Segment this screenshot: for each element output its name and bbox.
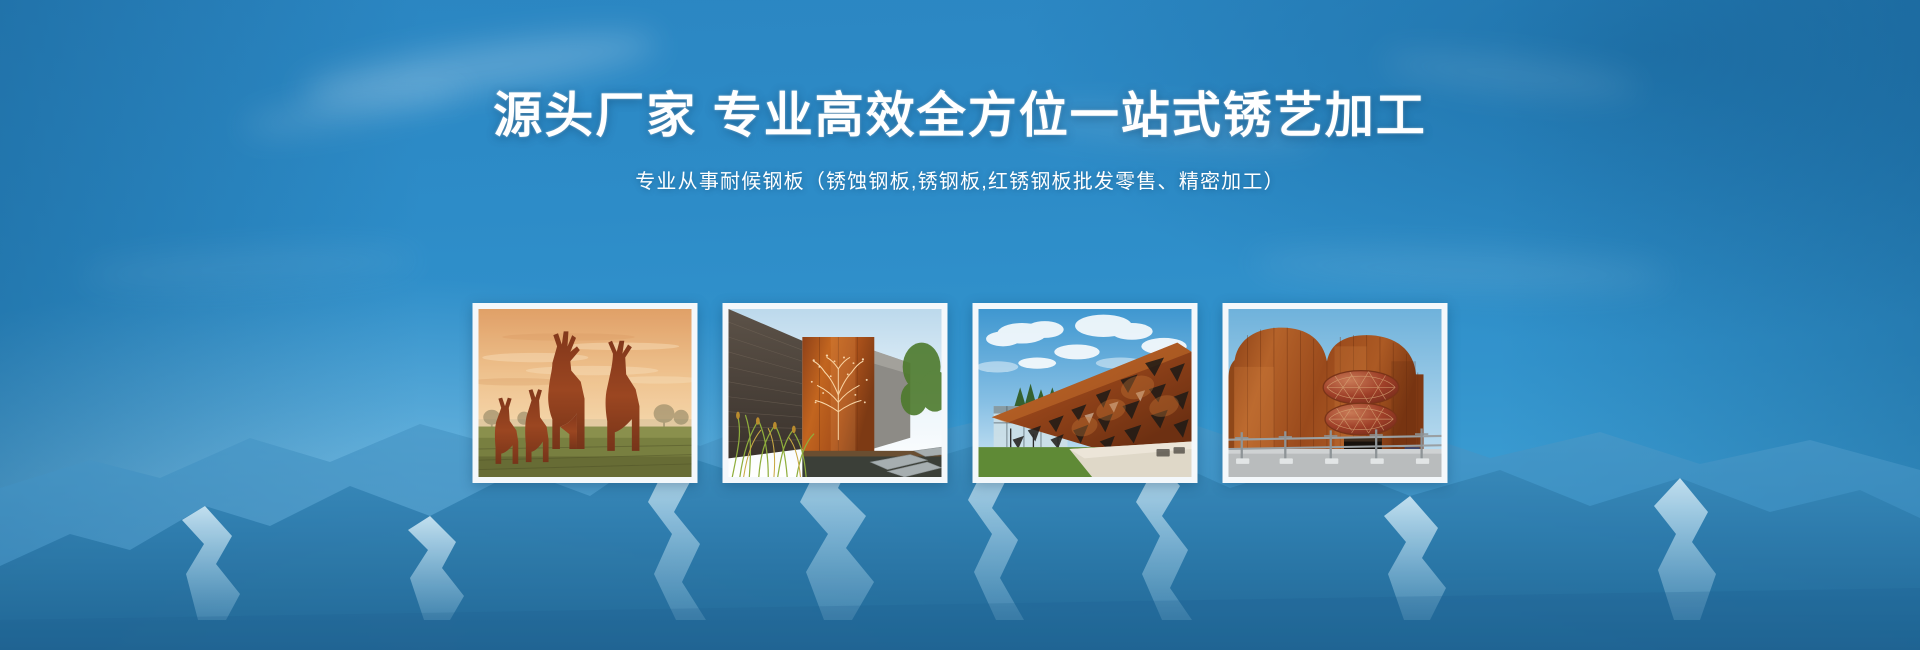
gallery-item-corten-triangular-facade[interactable]: 红锈钢板三角穿孔建筑幕墙 bbox=[973, 303, 1198, 483]
gallery-image-3: 红锈钢板三角穿孔建筑幕墙 bbox=[979, 309, 1192, 477]
page-title: 源头厂家 专业高效全方位一站式锈艺加工 bbox=[0, 88, 1920, 144]
product-gallery: 耐候钢鹿群雕塑 bbox=[473, 303, 1448, 483]
gallery-image-4: 锈钢板曲面外墙展馆 bbox=[1229, 309, 1442, 477]
banner-copy: 源头厂家 专业高效全方位一站式锈艺加工 专业从事耐候钢板（锈蚀钢板,锈钢板,红锈… bbox=[0, 88, 1920, 194]
gallery-item-corten-curved-pavilion[interactable]: 锈钢板曲面外墙展馆 bbox=[1223, 303, 1448, 483]
page-subtitle: 专业从事耐候钢板（锈蚀钢板,锈钢板,红锈钢板批发零售、精密加工） bbox=[0, 165, 1920, 194]
gallery-item-corten-deer-sculptures[interactable]: 耐候钢鹿群雕塑 bbox=[473, 303, 698, 483]
gallery-image-2: 锈蚀钢板树形镂空景墙 bbox=[729, 309, 942, 477]
gallery-item-corten-tree-screen[interactable]: 锈蚀钢板树形镂空景墙 bbox=[723, 303, 948, 483]
gallery-image-1: 耐候钢鹿群雕塑 bbox=[479, 309, 692, 477]
hero-banner: 源头厂家 专业高效全方位一站式锈艺加工 专业从事耐候钢板（锈蚀钢板,锈钢板,红锈… bbox=[0, 0, 1920, 650]
